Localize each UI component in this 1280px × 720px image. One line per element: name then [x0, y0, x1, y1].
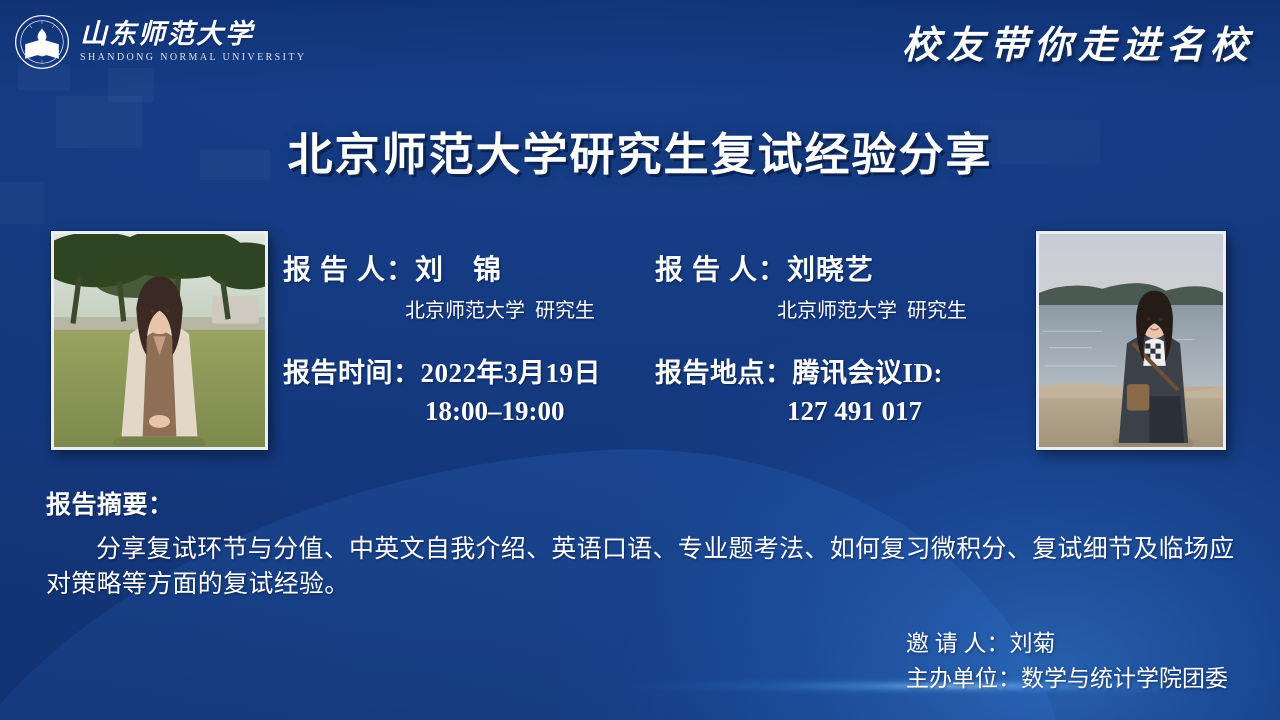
poster-slide: 山东师范大学 SHANDONG NORMAL UNIVERSITY 校友带你走进…: [0, 0, 1280, 720]
speaker-right-affiliation: 北京师范大学 研究生: [655, 294, 1023, 323]
speaker-left-affiliation: 北京师范大学 研究生: [283, 294, 655, 323]
abstract-heading: 报告摘要：: [46, 485, 1240, 521]
header-slogan: 校友带你走进名校: [902, 14, 1254, 69]
speaker-right-label: 报 告 人：: [655, 255, 787, 286]
speaker-right: 报 告 人：刘晓艺 北京师范大学 研究生: [655, 248, 1023, 323]
speaker-photo-right: [1036, 231, 1226, 450]
speaker-left-label: 报 告 人：: [283, 255, 415, 286]
speaker-left-line: 报 告 人：刘 锦: [283, 248, 655, 288]
time-label: 报告时间：: [283, 358, 421, 388]
footer: 邀 请 人：刘菊 主办单位：数学与统计学院团委: [906, 627, 1228, 696]
place-value: 腾讯会议ID:: [793, 358, 944, 388]
university-seal-icon: [14, 14, 70, 70]
abstract-section: 报告摘要： 分享复试环节与分值、中英文自我介绍、英语口语、专业题考法、如何复习微…: [46, 485, 1240, 602]
session-info: 报 告 人：刘 锦 北京师范大学 研究生 报 告 人：刘晓艺 北京师范大学 研究…: [283, 248, 1023, 427]
speaker-left-name: 刘 锦: [415, 255, 502, 286]
speaker-right-line: 报 告 人：刘晓艺: [655, 248, 1023, 288]
time-block: 报告时间：2022年3月19日 18:00–19:00: [283, 351, 655, 427]
speakers-row: 报 告 人：刘 锦 北京师范大学 研究生 报 告 人：刘晓艺 北京师范大学 研究…: [283, 248, 1023, 323]
place-block: 报告地点：腾讯会议ID: 127 491 017: [655, 351, 1023, 427]
place-value-second: 127 491 017: [655, 396, 1023, 427]
place-line: 报告地点：腾讯会议ID:: [655, 351, 1023, 390]
footer-inviter: 邀 请 人：刘菊: [906, 627, 1228, 662]
time-line: 报告时间：2022年3月19日: [283, 351, 655, 390]
university-name-en: SHANDONG NORMAL UNIVERSITY: [80, 52, 306, 64]
speaker-photo-left: [51, 231, 268, 450]
speaker-left: 报 告 人：刘 锦 北京师范大学 研究生: [283, 248, 655, 323]
university-logo: 山东师范大学 SHANDONG NORMAL UNIVERSITY: [14, 14, 306, 70]
university-logo-text: 山东师范大学 SHANDONG NORMAL UNIVERSITY: [80, 20, 306, 64]
details-row: 报告时间：2022年3月19日 18:00–19:00 报告地点：腾讯会议ID:…: [283, 351, 1023, 427]
header: 山东师范大学 SHANDONG NORMAL UNIVERSITY 校友带你走进…: [0, 0, 1280, 92]
university-name-cn: 山东师范大学: [80, 20, 306, 49]
place-label: 报告地点：: [655, 358, 793, 388]
speaker-right-name: 刘晓艺: [787, 255, 874, 286]
footer-organizer: 主办单位：数学与统计学院团委: [906, 662, 1228, 697]
abstract-body: 分享复试环节与分值、中英文自我介绍、英语口语、专业题考法、如何复习微积分、复试细…: [46, 533, 1240, 602]
time-value-second: 18:00–19:00: [283, 396, 655, 427]
page-title: 北京师范大学研究生复试经验分享: [0, 118, 1280, 183]
time-value: 2022年3月19日: [421, 358, 602, 388]
